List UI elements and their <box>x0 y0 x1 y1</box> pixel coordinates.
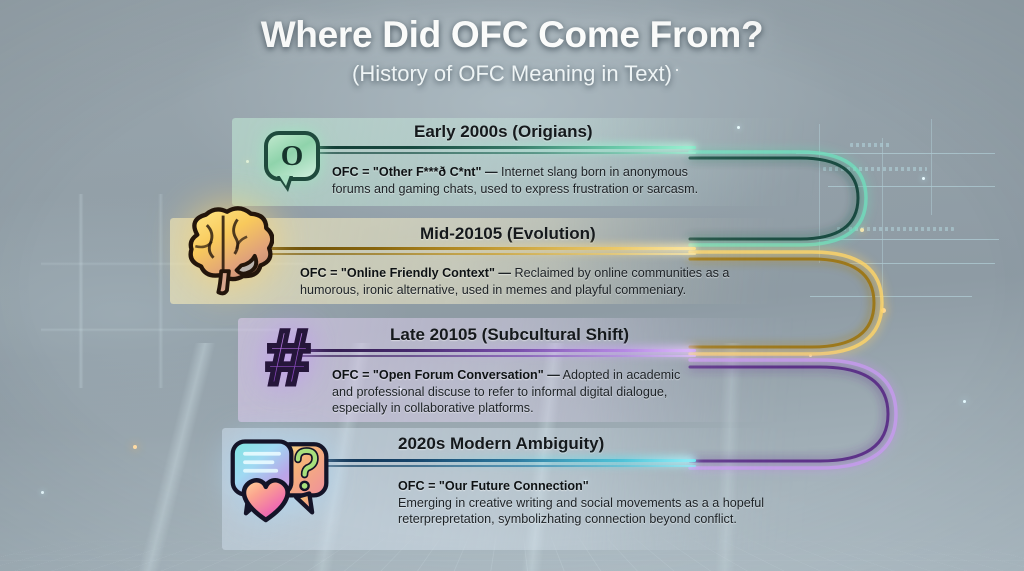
infographic-canvas: Where Did OFC Come From? (History of OFC… <box>0 0 1024 571</box>
section-divider-rule <box>250 247 696 258</box>
section-divider-rule <box>296 459 696 470</box>
section-dash: — <box>498 266 511 280</box>
section-lead: OFC = "Our Future Connection" <box>398 479 589 493</box>
section-divider-rule <box>296 146 696 157</box>
brain-icon <box>178 206 274 298</box>
section-body: OFC = "Open Forum Conversation" — Adopte… <box>332 367 704 417</box>
section-heading: Mid-20105 (Evolution) <box>420 224 596 244</box>
speech-bubble-letter: O <box>281 142 304 171</box>
section-body: OFC = "Other F***ð C*nt" — Internet slan… <box>332 164 724 197</box>
hashtag-icon: # <box>248 316 328 398</box>
header: Where Did OFC Come From? (History of OFC… <box>0 14 1024 87</box>
section-body: OFC = "Our Future Connection" Emerging i… <box>398 478 768 528</box>
section-heading: Early 2000s (Origians) <box>414 122 593 142</box>
hashtag-glyph: # <box>266 318 309 396</box>
section-lead: OFC = "Other F***ð C*nt" <box>332 165 481 179</box>
page-title: Where Did OFC Come From? <box>0 14 1024 56</box>
section-dash: — <box>485 165 498 179</box>
section-divider-rule <box>296 349 696 360</box>
section-lead: OFC = "Open Forum Conversation" <box>332 368 544 382</box>
section-lead: OFC = "Online Friendly Context" <box>300 266 495 280</box>
section-body: OFC = "Online Friendly Context" — Reclai… <box>300 265 768 298</box>
section-heading: 2020s Modern Ambiguity) <box>398 434 604 454</box>
chat-heart-question-icon <box>228 438 332 530</box>
page-subtitle: (History of OFC Meaning in Text) <box>0 61 1024 87</box>
section-heading: Late 20105 (Subcultural Shift) <box>390 325 629 345</box>
speech-bubble-o-icon: O <box>264 131 320 181</box>
section-dash: — <box>547 368 560 382</box>
section-description: Emerging in creative writing and social … <box>398 496 764 527</box>
